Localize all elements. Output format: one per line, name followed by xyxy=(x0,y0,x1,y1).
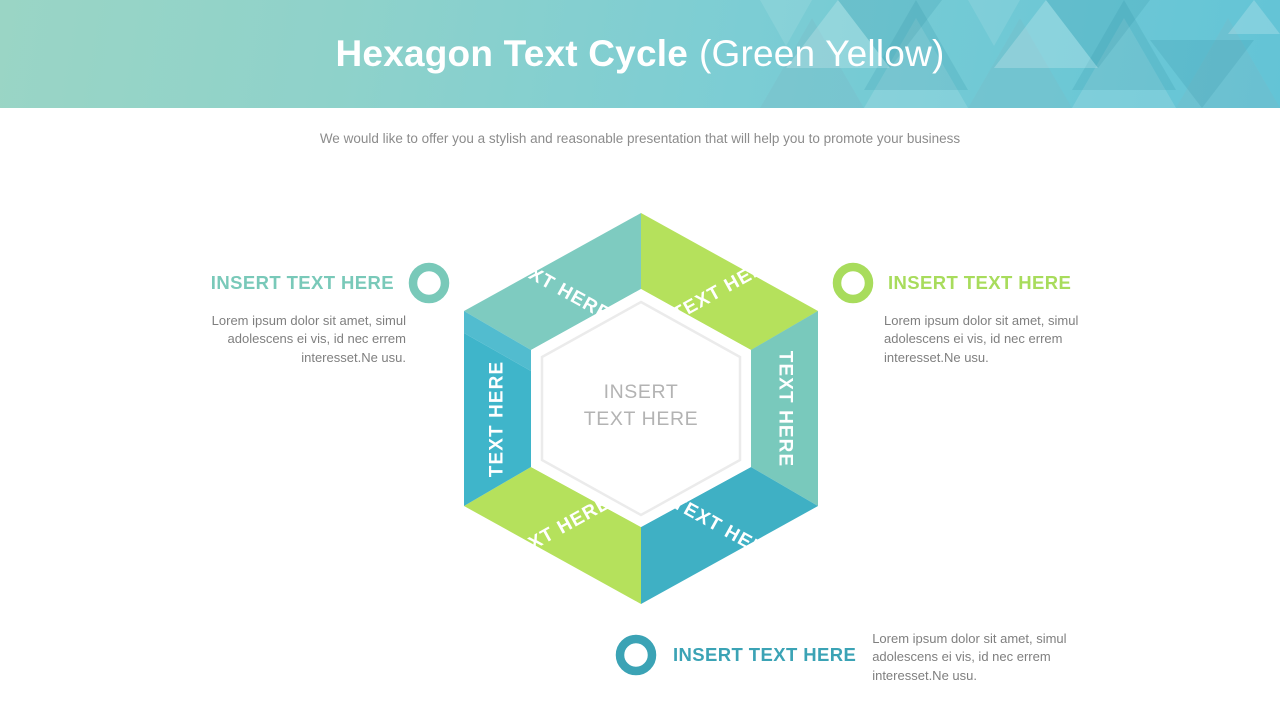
hex-segment-right-label: TEXT HERE xyxy=(775,351,796,468)
header-banner: Hexagon Text Cycle (Green Yellow) xyxy=(0,0,1280,108)
callout-right-header: INSERT TEXT HERE xyxy=(832,262,1132,304)
ring-icon xyxy=(615,634,657,676)
subtitle-text: We would like to offer you a stylish and… xyxy=(0,131,1280,146)
callout-left-header: INSERT TEXT HERE xyxy=(150,262,450,304)
ring-icon xyxy=(408,262,450,304)
callout-bottom[interactable]: INSERT TEXT HERE Lorem ipsum dolor sit a… xyxy=(615,630,1145,685)
hexagon-center-line2: TEXT HERE xyxy=(584,408,698,430)
callout-right-body: Lorem ipsum dolor sit amet, simul adoles… xyxy=(832,312,1132,367)
hex-segment-left-label: TEXT HERE xyxy=(487,361,508,478)
callout-bottom-title: INSERT TEXT HERE xyxy=(673,644,856,666)
slide-canvas: Hexagon Text Cycle (Green Yellow) We wou… xyxy=(0,0,1280,720)
callout-left-title: INSERT TEXT HERE xyxy=(211,272,394,294)
callout-bottom-header: INSERT TEXT HERE Lorem ipsum dolor sit a… xyxy=(615,630,1145,685)
callout-right[interactable]: INSERT TEXT HERE Lorem ipsum dolor sit a… xyxy=(832,262,1132,367)
page-title-regular: (Green Yellow) xyxy=(699,33,945,75)
callout-bottom-body: Lorem ipsum dolor sit amet, simul adoles… xyxy=(872,630,1107,685)
page-title-bold: Hexagon Text Cycle xyxy=(336,33,688,75)
hexagon-center-line1: INSERT xyxy=(604,381,679,403)
callout-right-title: INSERT TEXT HERE xyxy=(888,272,1071,294)
hexagon-cycle-diagram: TEXT HERE TEXT HERE TEXT HERE TEXT HERE xyxy=(440,190,850,620)
page-title: Hexagon Text Cycle (Green Yellow) xyxy=(0,0,1280,108)
callout-left-body: Lorem ipsum dolor sit amet, simul adoles… xyxy=(150,312,450,367)
ring-icon xyxy=(832,262,874,304)
callout-left[interactable]: INSERT TEXT HERE Lorem ipsum dolor sit a… xyxy=(150,262,450,367)
